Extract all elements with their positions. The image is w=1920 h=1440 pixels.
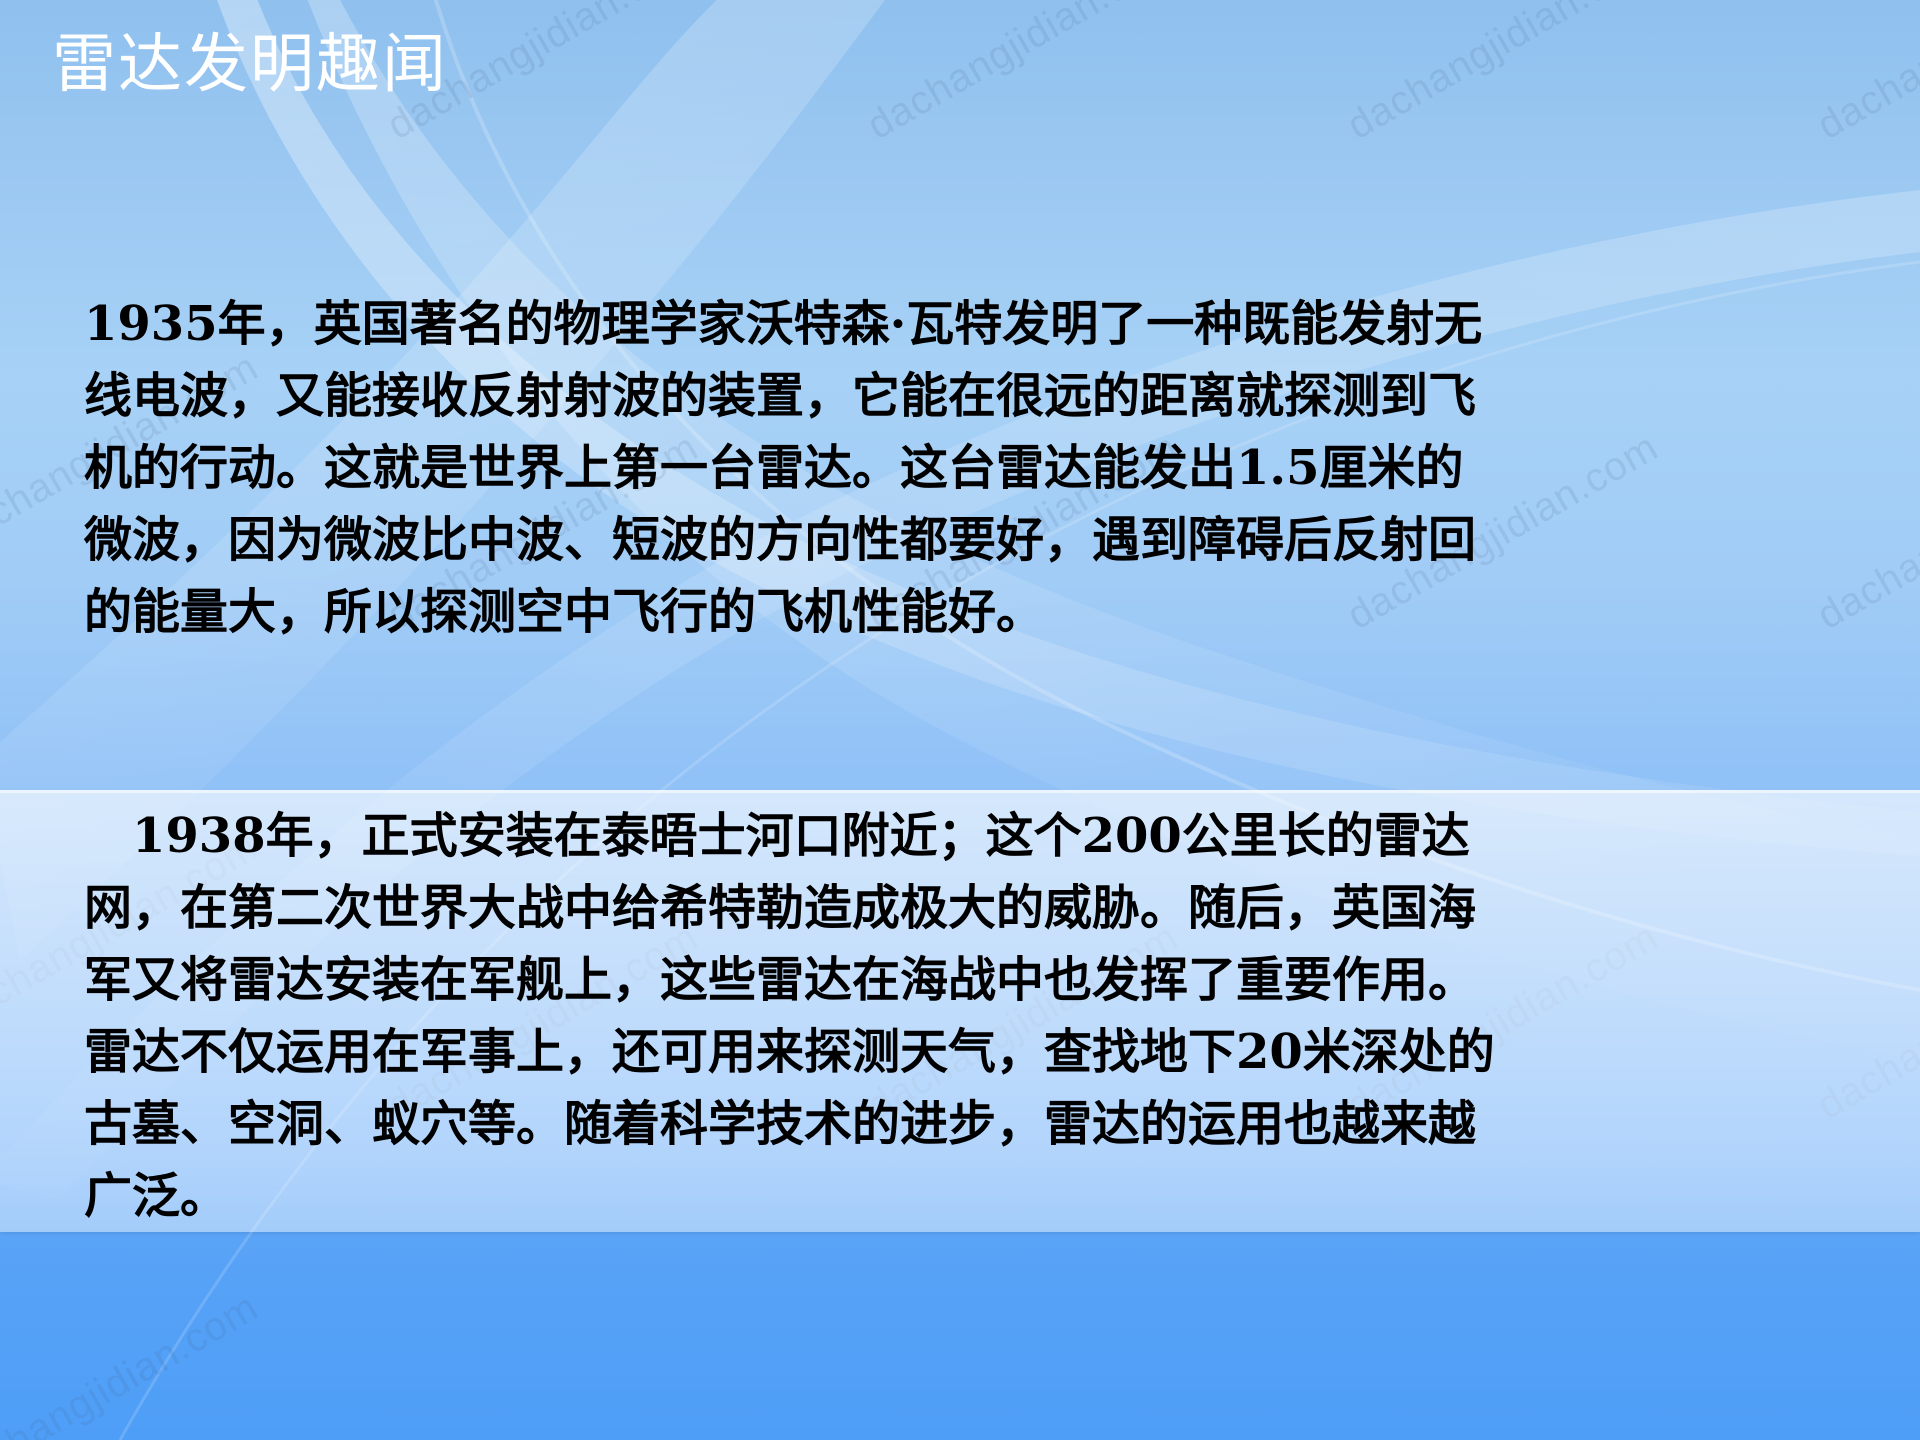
watermark-text: dachangjidian.com — [1810, 0, 1920, 149]
watermark-text: dachangjidian.com — [860, 0, 1186, 149]
presentation-slide: dachangjidian.com dachangjidian.com dach… — [0, 0, 1920, 1440]
watermark-text: dachangjidian.com — [0, 1285, 266, 1440]
body-paragraph-1: 1935年，英国著名的物理学家沃特森·瓦特发明了一种既能发射无线电波，又能接收反… — [84, 288, 1504, 648]
watermark-text: dachangjidian.com — [1810, 425, 1920, 639]
body-paragraph-2: 1938年，正式安装在泰晤士河口附近；这个200公里长的雷达网，在第二次世界大战… — [84, 800, 1514, 1232]
watermark-text: dachangjidian.com — [1340, 0, 1666, 149]
slide-title: 雷达发明趣闻 — [52, 28, 448, 102]
